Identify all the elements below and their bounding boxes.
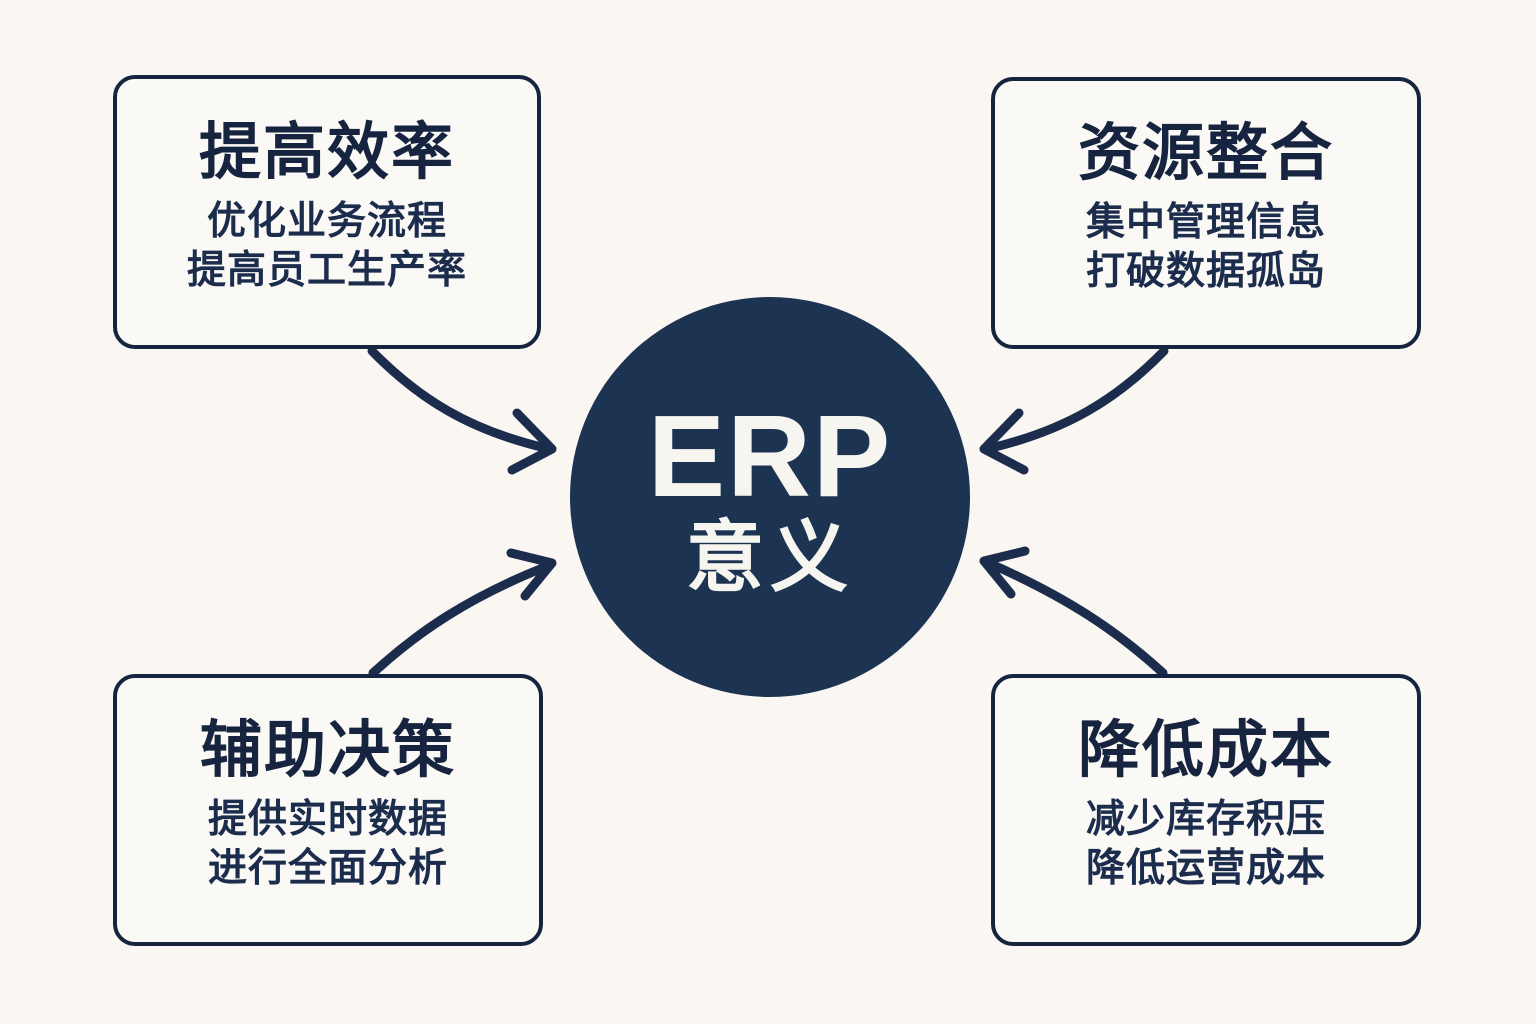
center-hub[interactable]: ERP 意义	[570, 297, 970, 697]
node-resource-integration-title: 资源整合	[1078, 121, 1334, 188]
node-efficiency-title: 提高效率	[199, 120, 455, 187]
node-decision-support-title: 辅助决策	[200, 718, 456, 785]
node-efficiency-line-1: 优化业务流程	[207, 197, 447, 247]
arrow-bottom-left-to-center	[373, 553, 552, 673]
arrow-bottom-right-to-center	[984, 551, 1163, 673]
center-subtitle: 意义	[686, 518, 854, 596]
arrow-top-right-to-center	[984, 351, 1164, 470]
node-efficiency[interactable]: 提高效率 优化业务流程 提高员工生产率	[113, 75, 541, 349]
node-cost-reduction-title: 降低成本	[1078, 718, 1334, 785]
node-efficiency-line-2: 提高员工生产率	[187, 246, 467, 296]
node-decision-support-line-2: 进行全面分析	[208, 844, 448, 894]
node-decision-support-line-1: 提供实时数据	[208, 795, 448, 845]
center-acronym: ERP	[648, 398, 893, 514]
node-cost-reduction-line-1: 减少库存积压	[1086, 795, 1326, 845]
node-cost-reduction-line-2: 降低运营成本	[1086, 844, 1326, 894]
arrow-top-left-to-center	[372, 351, 552, 470]
node-resource-integration-line-2: 打破数据孤岛	[1086, 247, 1326, 297]
erp-significance-diagram: 提高效率 优化业务流程 提高员工生产率 资源整合 集中管理信息 打破数据孤岛 辅…	[0, 0, 1536, 1024]
node-resource-integration-line-1: 集中管理信息	[1086, 198, 1326, 248]
node-decision-support[interactable]: 辅助决策 提供实时数据 进行全面分析	[113, 674, 543, 946]
node-cost-reduction[interactable]: 降低成本 减少库存积压 降低运营成本	[991, 674, 1421, 946]
node-resource-integration[interactable]: 资源整合 集中管理信息 打破数据孤岛	[991, 77, 1421, 349]
